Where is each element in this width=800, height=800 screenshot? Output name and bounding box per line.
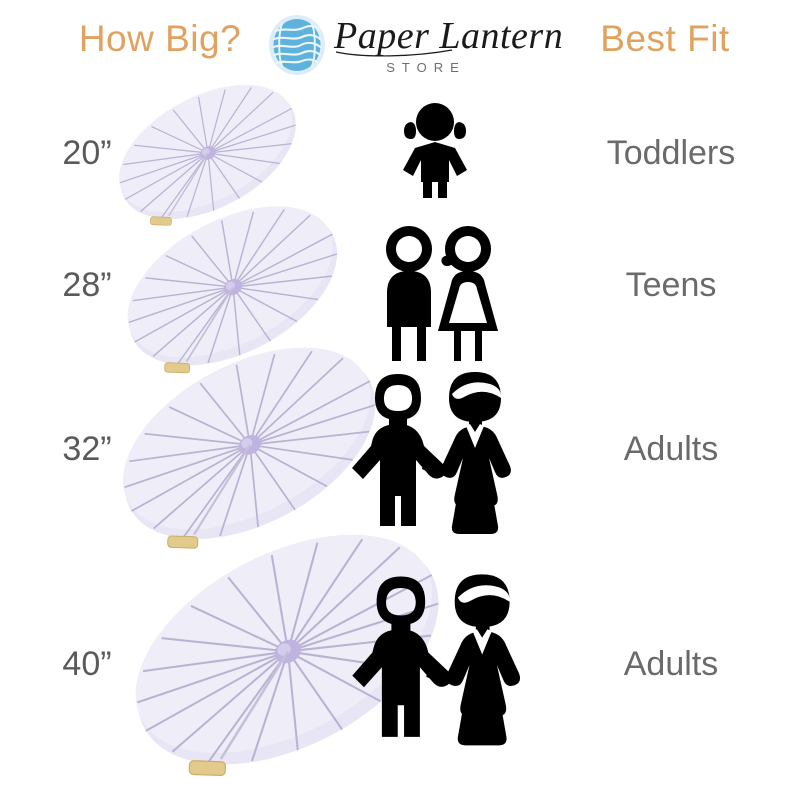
size-row: 20”	[0, 92, 800, 222]
fit-label: Teens	[556, 266, 786, 305]
best-fit-heading: Best Fit	[570, 18, 760, 60]
brand-logo: Paper Lantern STORE	[268, 8, 548, 88]
fit-label: Toddlers	[556, 134, 786, 173]
chart-header: How Big?	[0, 0, 800, 92]
how-big-heading: How Big?	[60, 18, 260, 60]
size-chart-infographic: How Big?	[0, 0, 800, 800]
teen-couple-figure-icon	[376, 222, 504, 362]
fit-label: Adults	[556, 645, 786, 684]
size-row: 40”	[0, 540, 800, 790]
adult-couple-figure-icon	[348, 366, 524, 546]
size-row: 28”	[0, 214, 800, 366]
fit-label: Adults	[556, 430, 786, 469]
toddler-girl-figure-icon	[397, 102, 473, 198]
brand-subtitle: STORE	[346, 60, 506, 75]
adult-couple-figure-icon	[348, 568, 534, 758]
size-row: 32”	[0, 358, 800, 554]
paper-lantern-icon	[268, 14, 326, 76]
brand-wordmark: Paper Lantern	[334, 12, 548, 60]
